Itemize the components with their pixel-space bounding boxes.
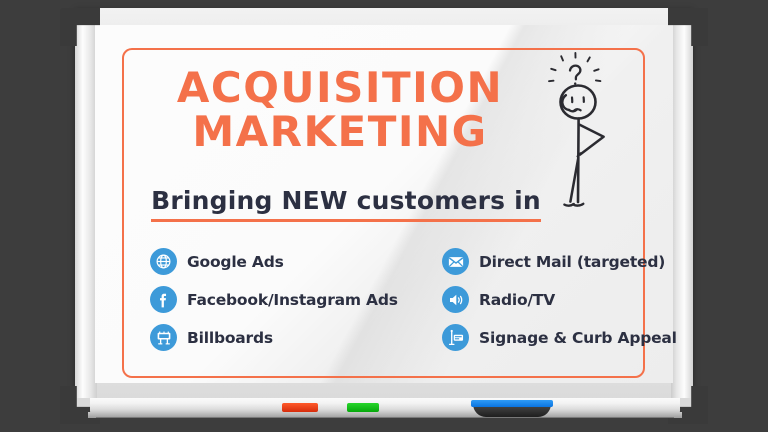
envelope-icon — [442, 248, 469, 275]
list-item-label: Signage & Curb Appeal — [479, 329, 677, 347]
list-item[interactable]: Google Ads — [150, 248, 386, 275]
list-item-label: Billboards — [187, 329, 273, 347]
list-item[interactable]: Radio/TV — [442, 286, 672, 313]
speaker-icon — [442, 286, 469, 313]
globe-icon — [150, 248, 177, 275]
channel-column-right: Direct Mail (targeted) Radio/TV — [442, 248, 672, 351]
title-line-2: MARKETING — [140, 112, 540, 152]
list-item[interactable]: Billboards — [150, 324, 386, 351]
page-title: ACQUISITION MARKETING — [140, 68, 540, 152]
list-item-label: Facebook/Instagram Ads — [187, 291, 398, 309]
list-item[interactable]: Signage & Curb Appeal — [442, 324, 672, 351]
subtitle-container: Bringing NEW customers in — [140, 186, 552, 222]
channel-column-left: Google Ads Facebook/Instagram Ads — [150, 248, 386, 351]
list-item[interactable]: Direct Mail (targeted) — [442, 248, 672, 275]
title-line-1: ACQUISITION — [140, 68, 540, 108]
billboard-icon — [150, 324, 177, 351]
green-marker[interactable] — [347, 403, 379, 412]
facebook-icon — [150, 286, 177, 313]
signpost-icon — [442, 324, 469, 351]
thinking-stick-figure-icon — [534, 52, 644, 222]
marker-tray-shadow — [96, 417, 674, 422]
list-item-label: Google Ads — [187, 253, 284, 271]
frame-edge-left — [75, 20, 97, 398]
list-item-label: Direct Mail (targeted) — [479, 253, 665, 271]
list-item-label: Radio/TV — [479, 291, 555, 309]
red-marker[interactable] — [282, 403, 318, 412]
list-item[interactable]: Facebook/Instagram Ads — [150, 286, 386, 313]
whiteboard-eraser-top — [471, 400, 553, 407]
subtitle: Bringing NEW customers in — [151, 186, 541, 222]
channel-columns: Google Ads Facebook/Instagram Ads — [150, 248, 630, 351]
slide-canvas: ACQUISITION MARKETING Bringing NEW custo… — [0, 0, 768, 432]
